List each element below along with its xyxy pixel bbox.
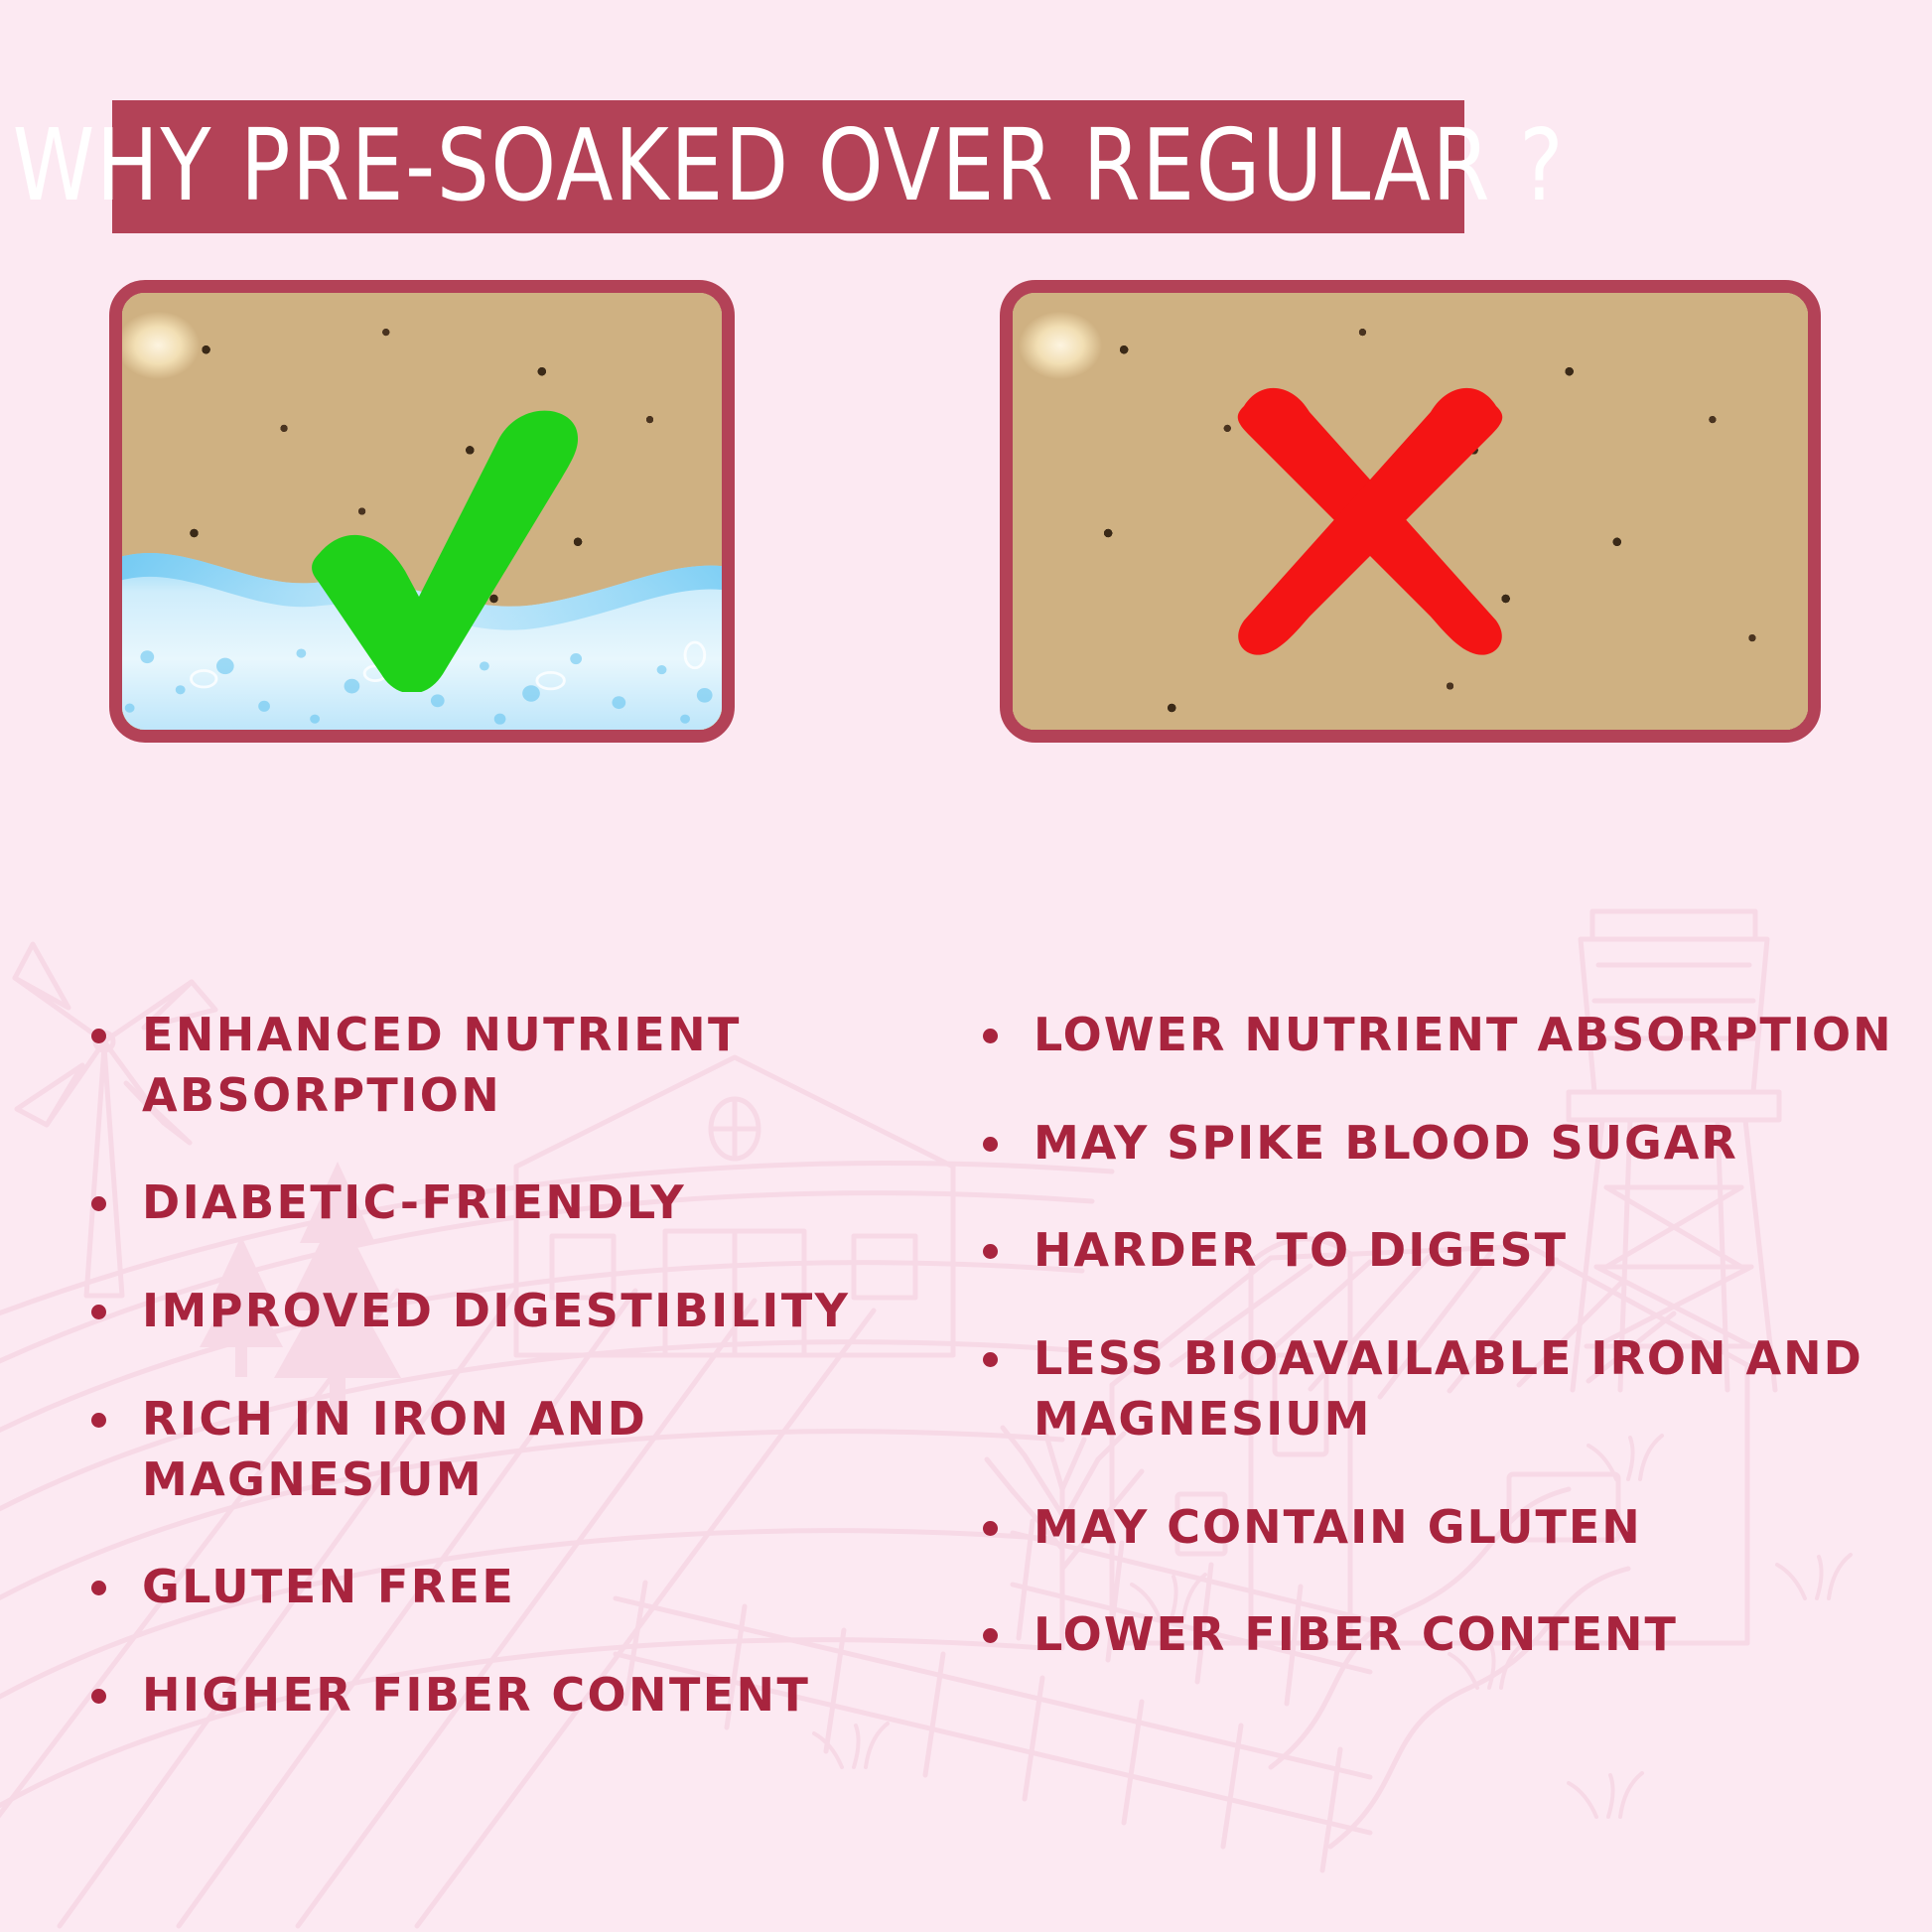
list-item: GLUTEN FREE [91,1557,965,1617]
card-regular [1000,280,1821,743]
benefits-list-pre-soaked: ENHANCED NUTRIENT ABSORPTION DIABETIC-FR… [91,1005,965,1773]
bullet-dot-icon [91,1581,106,1595]
bullet-dot-icon [983,1137,998,1152]
red-cross-icon [1226,372,1514,660]
bullet-dot-icon [983,1244,998,1259]
bullet-dot-icon [91,1029,106,1043]
bullet-dot-icon [91,1305,106,1319]
page-title: WHY PRE-SOAKED OVER REGULAR ? [12,117,1565,216]
list-item: HARDER TO DIGEST [983,1220,1906,1281]
list-item: RICH IN IRON AND MAGNESIUM [91,1389,965,1509]
list-item: HIGHER FIBER CONTENT [91,1665,965,1725]
bullet-dot-icon [91,1689,106,1704]
bullet-dot-icon [91,1196,106,1211]
list-item: LOWER NUTRIENT ABSORPTION [983,1005,1906,1065]
bullet-dot-icon [91,1413,106,1428]
bullet-dot-icon [983,1352,998,1367]
list-item: IMPROVED DIGESTIBILITY [91,1281,965,1341]
card-pre-soaked [109,280,735,743]
regular-sorghum-photo [1013,293,1808,730]
bullet-dot-icon [983,1521,998,1536]
list-item: MAY CONTAIN GLUTEN [983,1497,1906,1558]
header-banner: WHY PRE-SOAKED OVER REGULAR ? [112,100,1464,233]
green-check-icon [286,404,584,692]
list-item: MAY SPIKE BLOOD SUGAR [983,1113,1906,1173]
list-item: LESS BIOAVAILABLE IRON AND MAGNESIUM [983,1328,1906,1449]
list-item: LOWER FIBER CONTENT [983,1604,1906,1665]
bullet-dot-icon [983,1628,998,1643]
drawbacks-list-regular: LOWER NUTRIENT ABSORPTION MAY SPIKE BLOO… [983,1005,1906,1713]
pre-soaked-sorghum-photo [122,293,722,730]
list-item: ENHANCED NUTRIENT ABSORPTION [91,1005,965,1125]
list-item: DIABETIC-FRIENDLY [91,1173,965,1233]
bullet-dot-icon [983,1029,998,1043]
